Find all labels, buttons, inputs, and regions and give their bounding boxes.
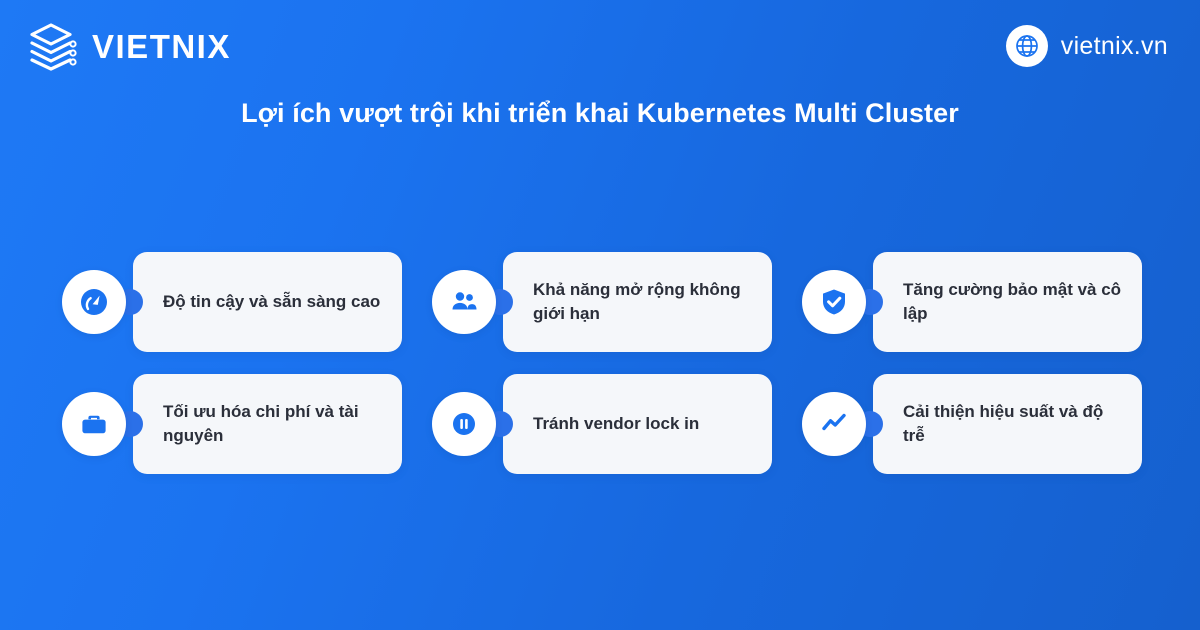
- benefit-card[interactable]: Tối ưu hóa chi phí và tài nguyên: [133, 374, 402, 474]
- benefit-label: Tăng cường bảo mật và cô lập: [903, 278, 1122, 326]
- benefit-item[interactable]: Khả năng mở rộng không giới hạn: [432, 252, 772, 352]
- benefit-label: Cải thiện hiệu suất và độ trễ: [903, 400, 1122, 448]
- brand-name: VIETNIX: [92, 30, 231, 63]
- stacked-layers-icon: [24, 19, 78, 73]
- benefit-label: Tối ưu hóa chi phí và tài nguyên: [163, 400, 382, 448]
- briefcase-icon: [62, 392, 126, 456]
- benefit-label: Độ tin cậy và sẵn sàng cao: [163, 290, 380, 314]
- pause-circle-icon: [432, 392, 496, 456]
- line-chart-icon: [802, 392, 866, 456]
- benefit-card[interactable]: Độ tin cậy và sẵn sàng cao: [133, 252, 402, 352]
- site-link[interactable]: vietnix.vn: [1006, 25, 1168, 67]
- shield-check-icon: [802, 270, 866, 334]
- benefit-card[interactable]: Cải thiện hiệu suất và độ trễ: [873, 374, 1142, 474]
- page-header: VIETNIX vietnix.vn: [0, 0, 1200, 92]
- benefit-card[interactable]: Khả năng mở rộng không giới hạn: [503, 252, 772, 352]
- benefit-item[interactable]: Cải thiện hiệu suất và độ trễ: [802, 374, 1142, 474]
- brand-logo[interactable]: VIETNIX: [24, 19, 231, 73]
- site-url-text: vietnix.vn: [1061, 32, 1168, 61]
- benefit-item[interactable]: Tăng cường bảo mật và cô lập: [802, 252, 1142, 352]
- benefit-label: Tránh vendor lock in: [533, 412, 699, 436]
- benefit-card[interactable]: Tránh vendor lock in: [503, 374, 772, 474]
- page-title: Lợi ích vượt trội khi triển khai Kuberne…: [0, 98, 1200, 129]
- benefit-label: Khả năng mở rộng không giới hạn: [533, 278, 752, 326]
- benefits-grid: Độ tin cậy và sẵn sàng cao Khả năng mở r…: [62, 252, 1140, 474]
- benefit-item[interactable]: Tối ưu hóa chi phí và tài nguyên: [62, 374, 402, 474]
- benefit-item[interactable]: Độ tin cậy và sẵn sàng cao: [62, 252, 402, 352]
- benefit-card[interactable]: Tăng cường bảo mật và cô lập: [873, 252, 1142, 352]
- gauge-icon: [62, 270, 126, 334]
- users-icon: [432, 270, 496, 334]
- globe-icon: [1006, 25, 1048, 67]
- benefit-item[interactable]: Tránh vendor lock in: [432, 374, 772, 474]
